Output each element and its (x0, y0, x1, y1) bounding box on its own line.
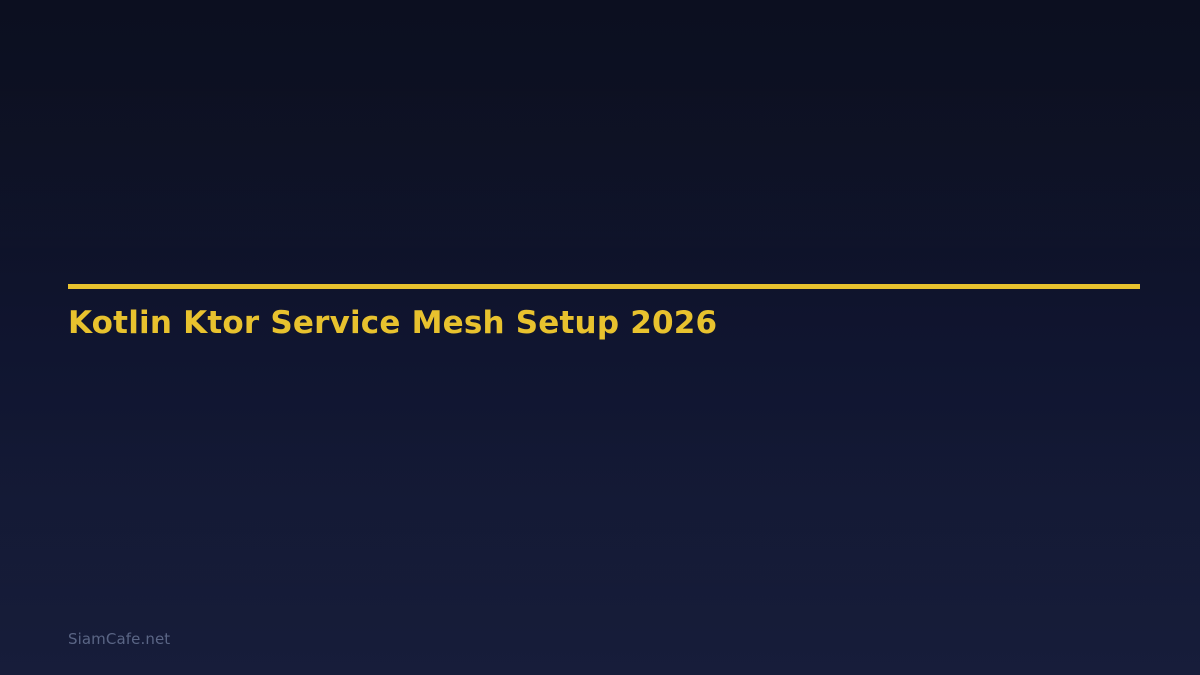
page-title: Kotlin Ktor Service Mesh Setup 2026 (68, 306, 1140, 341)
slide-footer: SiamCafe.net (68, 629, 170, 648)
title-block: Kotlin Ktor Service Mesh Setup 2026 (68, 284, 1140, 341)
slide-content-area (68, 360, 1140, 590)
presentation-slide: Kotlin Ktor Service Mesh Setup 2026 Siam… (0, 0, 1200, 675)
footer-brand-label: SiamCafe.net (68, 630, 170, 648)
accent-rule-divider (68, 284, 1140, 289)
